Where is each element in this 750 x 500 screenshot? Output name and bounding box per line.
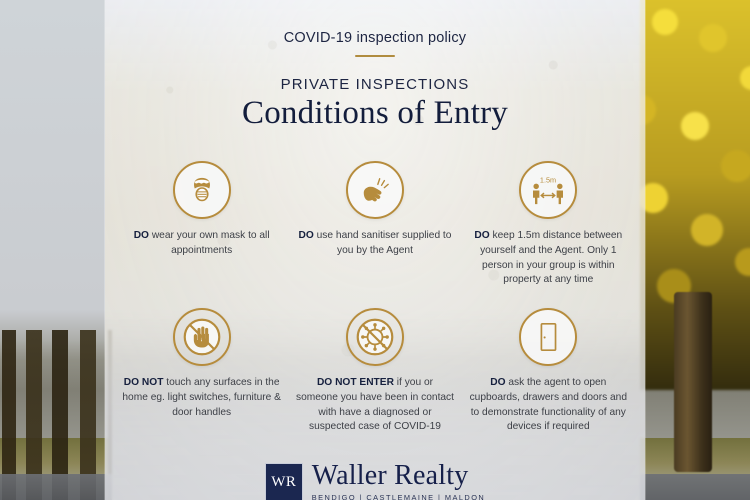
right-tree xyxy=(640,0,750,500)
logo-brand: Waller Realty BENDIGO | CASTLEMAINE | MA… xyxy=(312,462,485,500)
logo-monogram-mark: WR xyxy=(265,463,303,500)
distance-label: 1.5m xyxy=(540,176,556,185)
no-virus-entry-icon xyxy=(346,308,404,366)
logo-locations: BENDIGO | CASTLEMAINE | MALDON xyxy=(312,493,485,500)
condition-caption: DO NOT touch any surfaces in the home eg… xyxy=(122,376,282,420)
condition-lead: DO NOT ENTER xyxy=(317,377,394,388)
door-icon xyxy=(519,308,577,366)
condition-lead: DO NOT xyxy=(124,377,164,388)
condition-lead: DO xyxy=(474,230,489,241)
condition-caption: DO NOT ENTER if you or someone you have … xyxy=(295,376,455,435)
condition-item: DO NOT touch any surfaces in the home eg… xyxy=(117,308,286,435)
condition-item: DO NOT ENTER if you or someone you have … xyxy=(290,308,459,435)
condition-item: DO use hand sanitiser supplied to you by… xyxy=(290,161,459,288)
condition-caption: DO wear your own mask to all appointment… xyxy=(122,229,282,259)
condition-item: DO ask the agent to open cupboards, draw… xyxy=(464,308,633,435)
condition-item: DO wear your own mask to all appointment… xyxy=(117,161,286,288)
left-road xyxy=(0,474,112,500)
gold-divider xyxy=(355,55,395,57)
policy-eyebrow: COVID-19 inspection policy xyxy=(105,30,645,46)
right-trunk xyxy=(674,292,712,472)
left-tree-avenue xyxy=(0,0,112,500)
content-panel: COVID-19 inspection policy PRIVATE INSPE… xyxy=(105,0,645,500)
conditions-grid: DO wear your own mask to all appointment… xyxy=(105,133,645,435)
right-road xyxy=(640,474,750,500)
condition-lead: DO xyxy=(490,377,505,388)
condition-lead: DO xyxy=(299,230,314,241)
logo-monogram-text: WR xyxy=(271,474,296,491)
covid-inspection-policy-poster: COVID-19 inspection policy PRIVATE INSPE… xyxy=(0,0,750,500)
page-title: Conditions of Entry xyxy=(105,95,645,133)
hand-sanitiser-icon xyxy=(346,161,404,219)
condition-caption: DO ask the agent to open cupboards, draw… xyxy=(468,376,628,435)
no-touch-hand-icon xyxy=(173,308,231,366)
face-mask-icon xyxy=(173,161,231,219)
section-kicker: PRIVATE INSPECTIONS xyxy=(105,76,645,93)
condition-text: use hand sanitiser supplied to you by th… xyxy=(314,230,452,256)
condition-text: keep 1.5m distance between yourself and … xyxy=(480,230,622,285)
social-distance-1-5m-icon: 1.5m xyxy=(519,161,577,219)
waller-realty-logo: WR Waller Realty BENDIGO | CASTLEMAINE |… xyxy=(105,462,645,500)
logo-brand-name: Waller Realty xyxy=(312,462,485,490)
condition-item: 1.5m xyxy=(464,161,633,288)
condition-lead: DO xyxy=(134,230,149,241)
condition-text: wear your own mask to all appointments xyxy=(149,230,270,256)
condition-caption: DO keep 1.5m distance between yourself a… xyxy=(468,229,628,288)
condition-caption: DO use hand sanitiser supplied to you by… xyxy=(295,229,455,259)
